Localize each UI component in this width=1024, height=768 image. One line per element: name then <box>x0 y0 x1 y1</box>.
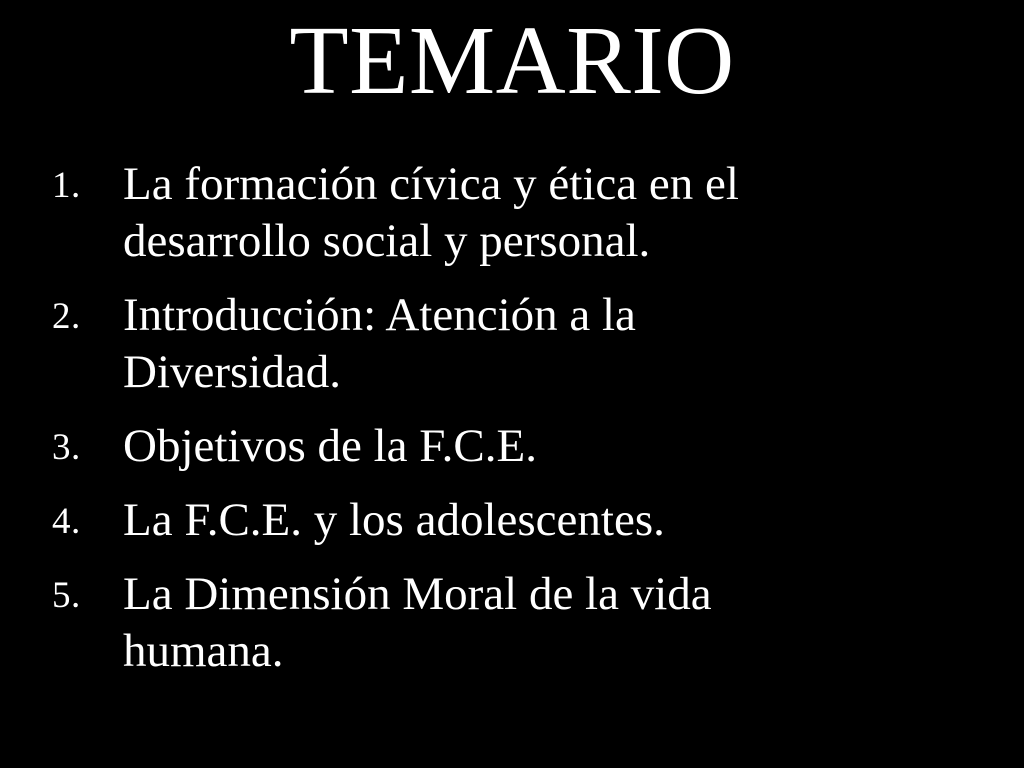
list-item-number: 5. <box>52 566 108 625</box>
list-item: 1. La formación cívica y ética en el des… <box>50 156 840 270</box>
list-item: 5. La Dimensión Moral de la vida humana. <box>50 566 840 680</box>
agenda-list: 1. La formación cívica y ética en el des… <box>50 156 840 680</box>
list-item: 4. La F.C.E. y los adolescentes. <box>50 492 840 549</box>
list-item: 3. Objetivos de la F.C.E. <box>50 418 840 475</box>
list-item-number: 1. <box>52 156 108 215</box>
list-item: 2. Introducción: Atención a la Diversida… <box>50 287 840 401</box>
list-item-label: Objetivos de la F.C.E. <box>123 418 840 475</box>
list-item-number: 4. <box>52 492 108 551</box>
list-item-number: 2. <box>52 287 108 346</box>
list-item-label: La formación cívica y ética en el desarr… <box>123 156 840 270</box>
list-item-number: 3. <box>52 418 108 477</box>
list-item-label: Introducción: Atención a la Diversidad. <box>123 287 840 401</box>
list-item-label: La F.C.E. y los adolescentes. <box>123 492 840 549</box>
list-item-label: La Dimensión Moral de la vida humana. <box>123 566 840 680</box>
presentation-slide: TEMARIO 1. La formación cívica y ética e… <box>0 0 1024 768</box>
page-title: TEMARIO <box>0 12 1024 109</box>
